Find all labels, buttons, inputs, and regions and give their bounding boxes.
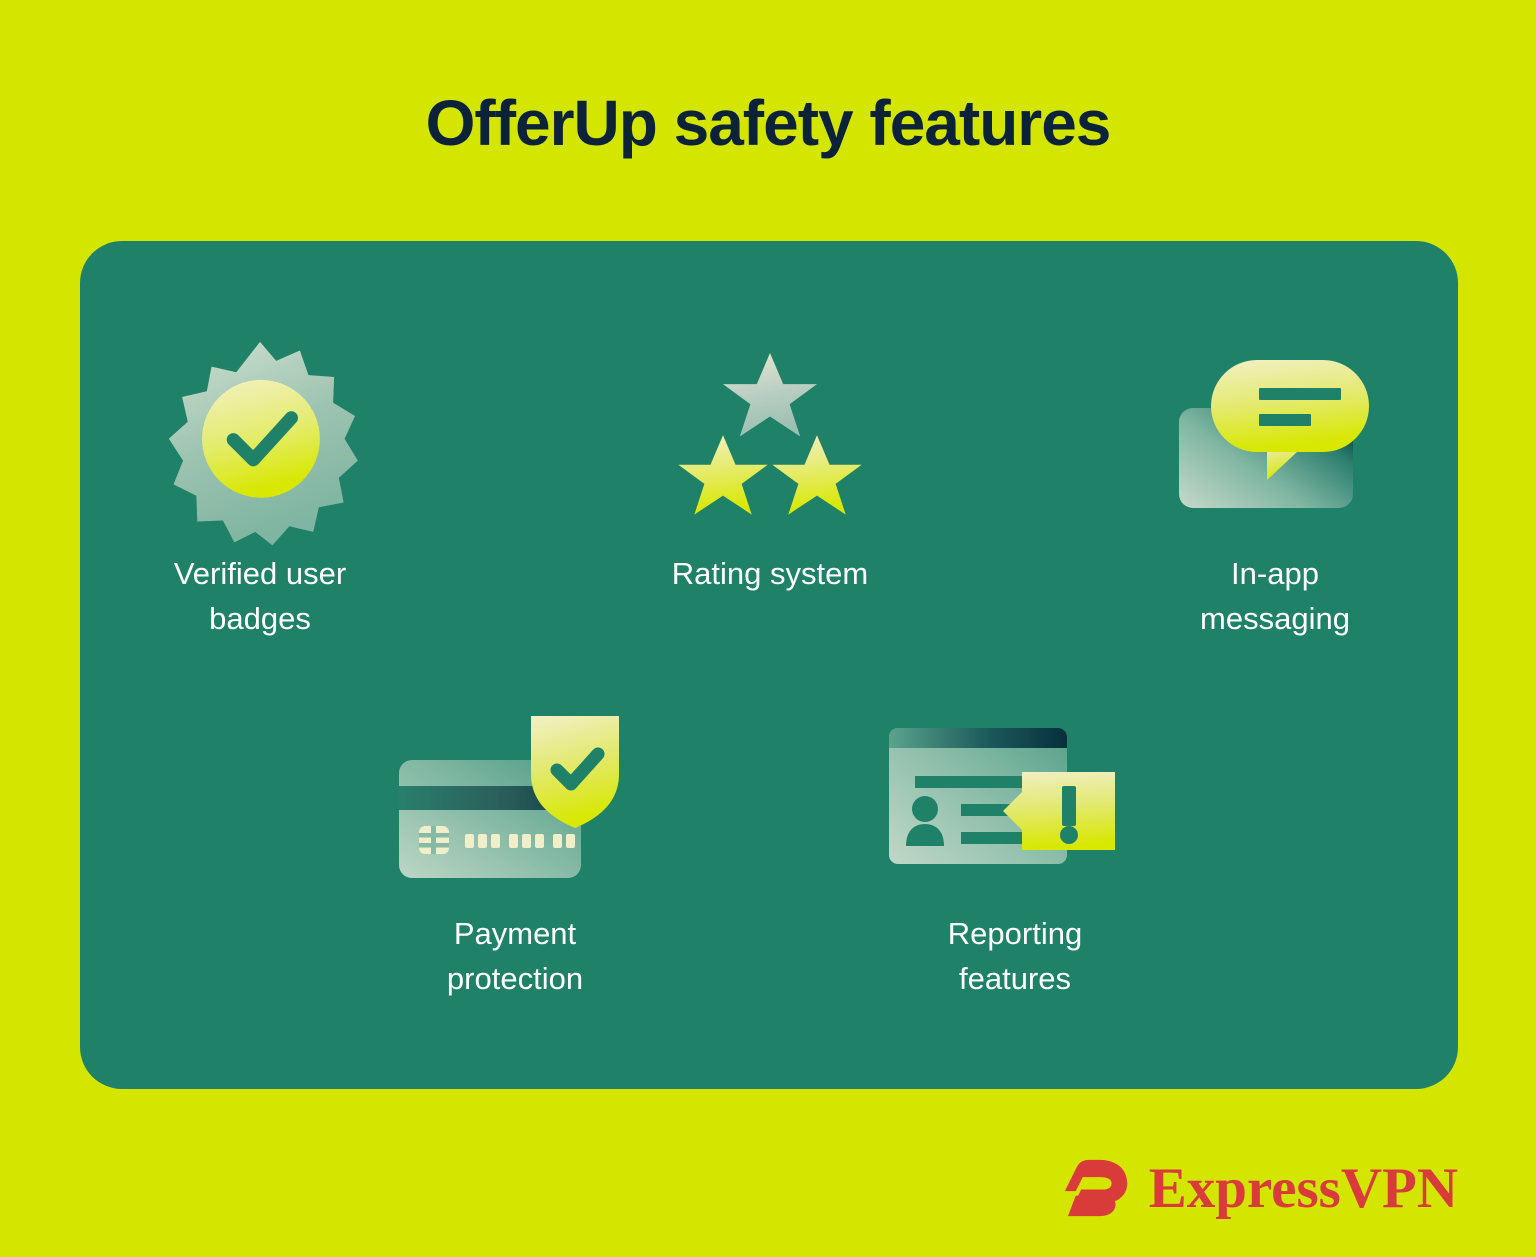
expressvpn-logo[interactable]: ExpressVPN (1057, 1149, 1458, 1227)
feature-payment-protection: Payment protection (355, 690, 675, 1002)
credit-card-shield-svg (395, 700, 635, 890)
verified-badge-icon (100, 330, 420, 530)
three-stars-svg (670, 350, 870, 530)
expressvpn-e-icon (1057, 1149, 1135, 1227)
profile-report-flag-icon (855, 690, 1175, 890)
chat-line-1 (1259, 388, 1341, 400)
feature-rating-system: Rating system (610, 330, 930, 597)
credit-card-shield-icon (355, 690, 675, 890)
profile-report-flag-svg (885, 700, 1145, 890)
chat-bubble-svg (1175, 350, 1375, 530)
feature-in-app-messaging: In-app messaging (1115, 330, 1435, 642)
feature-verified-user-badges: Verified user badges (100, 330, 420, 642)
page-title: OfferUp safety features (0, 88, 1536, 158)
emv-chip-icon (419, 826, 449, 854)
three-stars-icon (610, 330, 930, 530)
feature-label: Rating system (610, 552, 930, 597)
verified-badge-svg (165, 340, 355, 530)
chat-line-2 (1259, 414, 1311, 426)
infographic-poster: OfferUp safety features (0, 0, 1536, 1257)
feature-label: Payment protection (355, 912, 675, 1002)
feature-label: Reporting features (855, 912, 1175, 1002)
feature-label: In-app messaging (1115, 552, 1435, 642)
feature-reporting-features: Reporting features (855, 690, 1175, 1002)
chat-bubble-icon (1115, 330, 1435, 530)
expressvpn-wordmark: ExpressVPN (1149, 1160, 1458, 1217)
feature-label: Verified user badges (100, 552, 420, 642)
